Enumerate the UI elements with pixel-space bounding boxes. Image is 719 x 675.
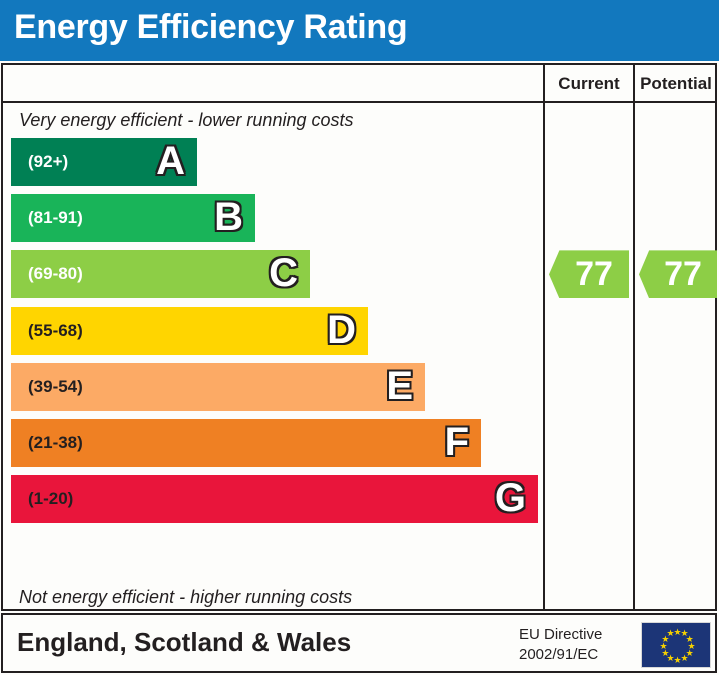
band-range-e: (39-54): [28, 377, 83, 397]
band-range-g: (1-20): [28, 489, 73, 509]
band-bar-g: (1-20)G: [11, 475, 538, 523]
column-header-current: Current: [545, 74, 633, 94]
rating-table: Current Potential Very energy efficient …: [1, 63, 717, 611]
band-range-c: (69-80): [28, 264, 83, 284]
title-bar: Energy Efficiency Rating: [0, 0, 719, 61]
caption-efficient: Very energy efficient - lower running co…: [19, 110, 354, 131]
directive-line-2: 2002/91/EC: [519, 645, 629, 665]
band-list: (92+)A(81-91)B(69-80)C(55-68)D(39-54)E(2…: [3, 136, 543, 584]
directive-line-1: EU Directive: [519, 625, 629, 645]
footer-bar: England, Scotland & Wales EU Directive 2…: [1, 613, 717, 673]
band-bar-f: (21-38)F: [11, 419, 481, 467]
column-divider-current: [543, 65, 545, 609]
band-range-b: (81-91): [28, 208, 83, 228]
band-letter-f: F: [445, 422, 469, 462]
band-letter-c: C: [269, 254, 298, 294]
rating-value-current: 77: [575, 257, 613, 291]
band-letter-a: A: [156, 141, 185, 181]
caption-not-efficient: Not energy efficient - higher running co…: [19, 587, 352, 608]
rating-arrow-current: 77: [549, 250, 629, 298]
rating-value-potential: 77: [664, 257, 702, 291]
band-range-a: (92+): [28, 152, 68, 172]
band-bar-b: (81-91)B: [11, 194, 255, 242]
band-bar-e: (39-54)E: [11, 363, 425, 411]
band-bar-c: (69-80)C: [11, 250, 310, 298]
eu-flag-icon: ★★★★★★★★★★★★: [641, 622, 711, 668]
band-bar-a: (92+)A: [11, 138, 197, 186]
band-letter-d: D: [327, 310, 356, 350]
page-title: Energy Efficiency Rating: [14, 8, 407, 47]
column-divider-potential: [633, 65, 635, 609]
band-range-f: (21-38): [28, 433, 83, 453]
eu-flag-star: ★: [667, 630, 674, 637]
band-letter-b: B: [214, 197, 243, 237]
band-letter-g: G: [495, 478, 526, 518]
header-divider: [3, 101, 715, 103]
column-header-potential: Potential: [635, 74, 717, 94]
eu-flag-star: ★: [660, 643, 667, 650]
eu-flag-star: ★: [661, 650, 668, 657]
footer-region-label: England, Scotland & Wales: [17, 627, 351, 658]
band-range-d: (55-68): [28, 321, 83, 341]
epc-chart: Energy Efficiency Rating Current Potenti…: [0, 0, 719, 675]
band-bar-d: (55-68)D: [11, 307, 368, 355]
footer-directive: EU Directive 2002/91/EC: [519, 625, 629, 666]
band-letter-e: E: [386, 366, 413, 406]
rating-arrow-potential: 77: [639, 250, 717, 298]
